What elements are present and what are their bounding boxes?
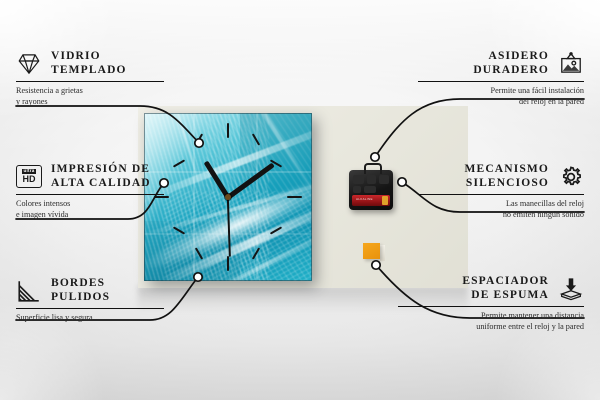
feature-vidrio-templado: VIDRIO TEMPLADO Resistencia a grietas y … (16, 50, 164, 107)
feature-sub-line2: e imagen vívida (16, 210, 164, 221)
feature-title-line1: ASIDERO (489, 50, 549, 64)
polished-edges-icon (16, 278, 42, 304)
feature-bordes-pulidos: BORDES PULIDOS Superficie lisa y segura (16, 277, 164, 324)
feature-asidero-duradero: ASIDERO DURADERO Permite una fácil insta… (418, 50, 584, 107)
feature-sub-line1: Las manecillas del reloj (418, 199, 584, 210)
feature-sub-line1: Colores intensos (16, 199, 164, 210)
connector-hanger (375, 99, 584, 157)
feature-sub-line2: del reloj en la pared (418, 97, 584, 108)
wall-frame-icon (558, 51, 584, 77)
feature-divider (418, 194, 584, 195)
marker-foam-spacer (372, 261, 380, 269)
feature-divider (16, 81, 164, 82)
feature-divider (16, 194, 164, 195)
feature-sub-line2: uniforme entre el reloj y la pared (398, 322, 584, 333)
feature-espaciador-de-espuma: ESPACIADOR DE ESPUMA Permite mantener un… (398, 275, 584, 332)
feature-sub-line2: no emiten ningún sonido (418, 210, 584, 221)
feature-divider (418, 81, 584, 82)
feature-title-line2: ALTA CALIDAD (51, 177, 151, 191)
ultra-hd-icon: ultra HD (16, 164, 42, 190)
marker-glass-surface (195, 139, 203, 147)
feature-title-line2: SILENCIOSO (466, 177, 549, 191)
feature-divider (398, 306, 584, 307)
feature-title-line1: ESPACIADOR (462, 275, 549, 289)
feature-title-line1: IMPRESIÓN DE (51, 163, 151, 177)
feature-title-line2: PULIDOS (51, 291, 110, 305)
gear-icon (558, 164, 584, 190)
feature-mecanismo-silencioso: MECANISMO SILENCIOSO Las manecillas del … (418, 163, 584, 220)
feature-title-line1: VIDRIO (51, 50, 127, 64)
feature-title-line2: DURADERO (473, 64, 549, 78)
feature-title-line2: TEMPLADO (51, 64, 127, 78)
feature-sub-line1: Superficie lisa y segura (16, 313, 164, 324)
feature-sub-line2: y rayones (16, 97, 164, 108)
product-infographic: ALKALINE (0, 0, 600, 400)
feature-title-line2: DE ESPUMA (471, 289, 549, 303)
feature-sub-line1: Permite mantener una distancia (398, 311, 584, 322)
feature-title-line1: MECANISMO (465, 163, 549, 177)
foam-spacer-icon (558, 276, 584, 302)
marker-polished-edge (194, 273, 202, 281)
marker-hanger (371, 153, 379, 161)
connector-glass (16, 106, 199, 143)
feature-sub-line1: Permite una fácil instalación (418, 86, 584, 97)
feature-impresion-alta-calidad: ultra HD IMPRESIÓN DE ALTA CALIDAD Color… (16, 163, 164, 220)
marker-mechanism (398, 178, 406, 186)
feature-divider (16, 308, 164, 309)
diamond-icon (16, 51, 42, 77)
ultra-hd-icon-large-text: HD (23, 175, 36, 184)
feature-title-line1: BORDES (51, 277, 110, 291)
feature-sub-line1: Resistencia a grietas (16, 86, 164, 97)
